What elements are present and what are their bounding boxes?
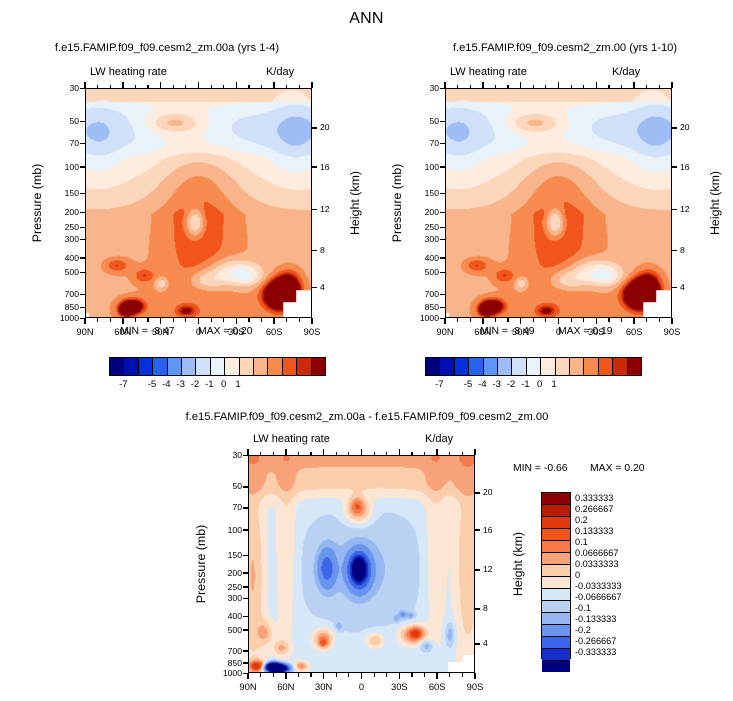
lat-minor-tick-bottom: [608, 318, 609, 322]
lat-tick-bottom: [444, 318, 445, 324]
lat-tick-bottom: [160, 318, 161, 324]
colorbar-swatch: [542, 493, 570, 505]
pressure-tick-label: 50: [407, 117, 439, 126]
colorbar-swatch: [124, 358, 138, 375]
lat-tick-label: 60N: [268, 682, 304, 691]
panel-title-difference: f.e15.FAMIP.f09_f09.cesm2_zm.00a - f.e15…: [97, 411, 637, 423]
colorbar-swatch: [556, 358, 570, 375]
colorbar-swatch: [440, 358, 454, 375]
height-tick-label: 20: [680, 123, 702, 132]
pressure-tick-label: 100: [210, 526, 242, 535]
panel-test-units-label: K/day: [266, 66, 294, 78]
lat-tick-top: [361, 449, 362, 455]
lat-minor-tick-top: [223, 85, 224, 89]
colorbar-tick-label: 0.2: [575, 515, 653, 525]
lat-tick-label: 60S: [256, 327, 292, 336]
lat-minor-tick-top: [545, 85, 546, 89]
height-tick: [672, 166, 677, 167]
lat-tick-bottom: [596, 318, 597, 324]
pressure-tick-label: 200: [210, 569, 242, 578]
lat-minor-tick-top: [470, 85, 471, 89]
pressure-tick-label: 500: [47, 268, 79, 277]
colorbar-swatch: [455, 358, 469, 375]
lat-minor-tick-bottom: [646, 318, 647, 322]
colorbar-swatch: [542, 589, 570, 601]
height-tick-label: 4: [483, 639, 505, 648]
height-tick: [475, 569, 480, 570]
pressure-tick: [440, 121, 445, 122]
colorbar-swatch: [527, 358, 541, 375]
colorbar-swatch: [542, 565, 570, 577]
pressure-tick: [440, 193, 445, 194]
pressure-tick-label: 250: [210, 583, 242, 592]
lat-tick-top: [436, 449, 437, 455]
panel-control-min: MIN = -3.49: [480, 326, 535, 337]
colorbar-swatch: [168, 358, 182, 375]
colorbar-swatch: [182, 358, 196, 375]
lat-tick-bottom: [520, 318, 521, 324]
lat-minor-tick-bottom: [135, 318, 136, 322]
colorbar-tick-label: -7: [425, 379, 453, 390]
height-tick-label: 8: [320, 246, 342, 255]
pressure-tick: [243, 529, 248, 530]
lat-tick-top: [311, 82, 312, 88]
panel-control-ylabel: Pressure (mb): [390, 148, 404, 258]
lat-minor-tick-top: [273, 452, 274, 456]
pressure-tick-label: 30: [210, 451, 242, 460]
lat-tick-label: 90S: [294, 327, 330, 336]
lat-tick-top: [399, 449, 400, 455]
lat-minor-tick-bottom: [411, 673, 412, 677]
panel-control-y2label: Height (km): [708, 148, 722, 258]
lat-tick-top: [596, 82, 597, 88]
lat-minor-tick-top: [533, 85, 534, 89]
lat-minor-tick-bottom: [97, 318, 98, 322]
panel-control-variable-label: LW heating rate: [450, 66, 527, 78]
lat-tick-top: [273, 82, 274, 88]
pressure-tick: [243, 662, 248, 663]
pressure-tick-label: 1000: [47, 314, 79, 323]
colorbar-tick-label: 1: [540, 379, 568, 390]
pressure-tick: [243, 486, 248, 487]
panel-test-min: MIN = -3.47: [120, 326, 175, 337]
height-tick-label: 16: [680, 163, 702, 172]
pressure-tick: [243, 555, 248, 556]
height-tick: [672, 209, 677, 210]
lat-minor-tick-bottom: [298, 673, 299, 677]
lat-minor-tick-top: [298, 452, 299, 456]
pressure-tick-label: 300: [407, 235, 439, 244]
lat-tick-label: 90N: [230, 682, 266, 691]
colorbar-tick-label: 0.333333: [575, 493, 653, 503]
colorbar-swatch: [542, 505, 570, 517]
pressure-tick: [80, 307, 85, 308]
colorbar-swatch: [139, 358, 153, 375]
lat-minor-tick-top: [135, 85, 136, 89]
lat-tick-top: [558, 82, 559, 88]
colorbar-tick-label: -0.1: [575, 603, 653, 613]
colorbar-tick-label: -0.0333333: [575, 581, 653, 591]
lat-tick-bottom: [482, 318, 483, 324]
pressure-tick: [440, 212, 445, 213]
lat-minor-tick-bottom: [659, 318, 660, 322]
colorbar-swatch: [542, 661, 570, 672]
lat-minor-tick-top: [260, 452, 261, 456]
pressure-tick-label: 700: [210, 647, 242, 656]
pressure-tick-label: 50: [47, 117, 79, 126]
pressure-tick-label: 300: [210, 594, 242, 603]
lat-tick-top: [671, 82, 672, 88]
panel-test-y2label: Height (km): [348, 148, 362, 258]
pressure-tick: [243, 650, 248, 651]
lat-minor-tick-top: [583, 85, 584, 89]
lat-tick-top: [520, 82, 521, 88]
lat-minor-tick-bottom: [273, 673, 274, 677]
lat-minor-tick-bottom: [248, 318, 249, 322]
pressure-tick-label: 400: [407, 254, 439, 263]
lat-tick-bottom: [84, 318, 85, 324]
colorbar-swatch: [110, 358, 124, 375]
lat-minor-tick-bottom: [621, 318, 622, 322]
pressure-tick: [440, 257, 445, 258]
lat-tick-top: [285, 449, 286, 455]
colorbar-swatch: [498, 358, 512, 375]
lat-minor-tick-top: [462, 452, 463, 456]
panel-difference-ylabel: Pressure (mb): [194, 509, 208, 619]
lat-minor-tick-top: [336, 452, 337, 456]
height-tick: [475, 643, 480, 644]
lat-minor-tick-bottom: [386, 673, 387, 677]
lat-minor-tick-bottom: [583, 318, 584, 322]
lat-tick-label: 30N: [306, 682, 342, 691]
colorbar-swatch: [570, 358, 584, 375]
lat-tick-label: 90S: [457, 682, 493, 691]
lat-minor-tick-bottom: [223, 318, 224, 322]
height-tick: [312, 287, 317, 288]
pressure-tick: [440, 272, 445, 273]
lat-minor-tick-top: [424, 452, 425, 456]
pressure-tick-label: 250: [407, 223, 439, 232]
pressure-tick-label: 400: [47, 254, 79, 263]
height-tick-label: 20: [483, 488, 505, 497]
lat-tick-top: [482, 82, 483, 88]
colorbar-swatch: [542, 649, 570, 661]
colorbar-swatch: [542, 577, 570, 589]
colorbar-swatch: [613, 358, 627, 375]
height-tick-label: 20: [320, 123, 342, 132]
pressure-tick-label: 70: [47, 139, 79, 148]
lat-tick-top: [247, 449, 248, 455]
lat-minor-tick-bottom: [470, 318, 471, 322]
panel-test-plot: [85, 88, 312, 318]
colorbar-swatch: [542, 553, 570, 565]
lat-tick-top: [633, 82, 634, 88]
lat-tick-top: [198, 82, 199, 88]
panel-control-colorbar: [425, 357, 642, 376]
lat-tick-bottom: [436, 673, 437, 679]
colorbar-tick-label: -0.266667: [575, 636, 653, 646]
panel-difference-min: MIN = -0.66: [513, 463, 568, 474]
lat-tick-label: 60S: [419, 682, 455, 691]
lat-minor-tick-top: [457, 85, 458, 89]
panel-test-max: MAX = 0.20: [198, 326, 253, 337]
pressure-tick: [80, 193, 85, 194]
lat-minor-tick-top: [348, 452, 349, 456]
lat-minor-tick-bottom: [147, 318, 148, 322]
lat-tick-label: 90S: [654, 327, 690, 336]
panel-test-ylabel: Pressure (mb): [30, 148, 44, 258]
lat-minor-tick-top: [211, 85, 212, 89]
height-tick: [312, 250, 317, 251]
colorbar-tick-label: 0.0666667: [575, 548, 653, 558]
pressure-tick-label: 200: [407, 208, 439, 217]
height-tick-label: 4: [320, 283, 342, 292]
pressure-tick-label: 150: [210, 551, 242, 560]
lat-minor-tick-bottom: [449, 673, 450, 677]
page-title: ANN: [0, 10, 733, 28]
colorbar-swatch: [584, 358, 598, 375]
height-tick: [475, 608, 480, 609]
height-tick: [312, 166, 317, 167]
colorbar-swatch: [225, 358, 239, 375]
pressure-tick-label: 850: [210, 659, 242, 668]
lat-minor-tick-top: [621, 85, 622, 89]
colorbar-swatch: [268, 358, 282, 375]
lat-minor-tick-bottom: [173, 318, 174, 322]
lat-tick-top: [84, 82, 85, 88]
colorbar-swatch: [254, 358, 268, 375]
colorbar-swatch: [240, 358, 254, 375]
lat-minor-tick-bottom: [533, 318, 534, 322]
colorbar-tick-label: -0.2: [575, 625, 653, 635]
pressure-tick: [80, 294, 85, 295]
panel-test-variable-label: LW heating rate: [90, 66, 167, 78]
height-tick: [475, 492, 480, 493]
colorbar-swatch: [297, 358, 311, 375]
pressure-tick: [440, 239, 445, 240]
lat-tick-bottom: [311, 318, 312, 324]
height-tick-label: 8: [680, 246, 702, 255]
panel-difference-units-label: K/day: [425, 433, 453, 445]
pressure-tick-label: 500: [407, 268, 439, 277]
lat-minor-tick-top: [310, 452, 311, 456]
colorbar-tick-label: 0.1: [575, 537, 653, 547]
pressure-tick-label: 30: [407, 84, 439, 93]
pressure-tick: [80, 143, 85, 144]
height-tick: [312, 127, 317, 128]
pressure-tick-label: 200: [47, 208, 79, 217]
height-tick-label: 8: [483, 604, 505, 613]
colorbar-swatch: [542, 541, 570, 553]
lat-tick-label: 30S: [381, 682, 417, 691]
panel-title-test: f.e15.FAMIP.f09_f09.cesm2_zm.00a (yrs 1-…: [2, 42, 332, 54]
lat-minor-tick-top: [147, 85, 148, 89]
lat-minor-tick-top: [110, 85, 111, 89]
height-tick: [475, 529, 480, 530]
lat-tick-top: [236, 82, 237, 88]
lat-minor-tick-bottom: [424, 673, 425, 677]
lat-minor-tick-bottom: [211, 318, 212, 322]
panel-test-colorbar: [109, 357, 326, 376]
lat-minor-tick-top: [261, 85, 262, 89]
pressure-tick: [440, 166, 445, 167]
colorbar-tick-label: -0.133333: [575, 614, 653, 624]
lat-minor-tick-bottom: [336, 673, 337, 677]
lat-minor-tick-top: [286, 85, 287, 89]
lat-minor-tick-top: [299, 85, 300, 89]
lat-minor-tick-top: [571, 85, 572, 89]
lat-minor-tick-bottom: [286, 318, 287, 322]
pressure-tick: [243, 586, 248, 587]
pressure-tick-label: 850: [47, 303, 79, 312]
colorbar-swatch: [312, 358, 325, 375]
lat-minor-tick-bottom: [462, 673, 463, 677]
lat-tick-bottom: [361, 673, 362, 679]
pressure-tick: [243, 507, 248, 508]
colorbar-swatch: [542, 637, 570, 649]
pressure-tick-label: 70: [210, 503, 242, 512]
lat-tick-bottom: [122, 318, 123, 324]
panel-difference-max: MAX = 0.20: [590, 463, 645, 474]
lat-minor-tick-top: [173, 85, 174, 89]
colorbar-swatch: [542, 625, 570, 637]
lat-minor-tick-top: [248, 85, 249, 89]
lat-tick-bottom: [399, 673, 400, 679]
colorbar-tick-label: -0.333333: [575, 647, 653, 657]
lat-minor-tick-top: [185, 85, 186, 89]
lat-minor-tick-bottom: [457, 318, 458, 322]
colorbar-swatch: [484, 358, 498, 375]
lat-minor-tick-bottom: [260, 673, 261, 677]
height-tick-label: 12: [320, 205, 342, 214]
height-tick: [672, 250, 677, 251]
lat-minor-tick-bottom: [110, 318, 111, 322]
panel-difference-y2label: Height (km): [511, 509, 525, 619]
colorbar-swatch: [426, 358, 440, 375]
lat-minor-tick-bottom: [545, 318, 546, 322]
lat-minor-tick-top: [659, 85, 660, 89]
colorbar-tick-label: 0.133333: [575, 526, 653, 536]
panel-control-units-label: K/day: [612, 66, 640, 78]
colorbar-swatch: [599, 358, 613, 375]
pressure-tick: [440, 227, 445, 228]
lat-tick-top: [444, 82, 445, 88]
lat-minor-tick-top: [374, 452, 375, 456]
pressure-tick: [440, 307, 445, 308]
height-tick-label: 12: [680, 205, 702, 214]
colorbar-swatch: [628, 358, 641, 375]
lat-tick-bottom: [236, 318, 237, 324]
height-tick: [672, 287, 677, 288]
lat-minor-tick-top: [608, 85, 609, 89]
colorbar-swatch: [512, 358, 526, 375]
lat-minor-tick-top: [507, 85, 508, 89]
pressure-tick-label: 1000: [407, 314, 439, 323]
lat-minor-tick-top: [449, 452, 450, 456]
colorbar-tick-label: -7: [109, 379, 137, 390]
pressure-tick: [243, 598, 248, 599]
height-tick-label: 16: [320, 163, 342, 172]
pressure-tick-label: 100: [47, 163, 79, 172]
lat-tick-bottom: [558, 318, 559, 324]
colorbar-swatch: [196, 358, 210, 375]
panel-control-max: MAX = 0.19: [558, 326, 613, 337]
lat-tick-bottom: [323, 673, 324, 679]
panel-difference-colorbar: [541, 492, 571, 659]
lat-minor-tick-bottom: [374, 673, 375, 677]
lat-minor-tick-bottom: [299, 318, 300, 322]
pressure-tick: [80, 257, 85, 258]
lat-minor-tick-top: [646, 85, 647, 89]
colorbar-tick-label: -0.0666667: [575, 592, 653, 602]
lat-minor-tick-bottom: [495, 318, 496, 322]
colorbar-tick-label: 0.266667: [575, 504, 653, 514]
colorbar-swatch: [542, 517, 570, 529]
pressure-tick: [440, 294, 445, 295]
lat-minor-tick-bottom: [261, 318, 262, 322]
pressure-tick-label: 70: [407, 139, 439, 148]
panel-control-plot: [445, 88, 672, 318]
pressure-tick: [80, 227, 85, 228]
panel-difference-variable-label: LW heating rate: [253, 433, 330, 445]
pressure-tick: [80, 121, 85, 122]
colorbar-tick-label: 0: [575, 570, 653, 580]
pressure-tick: [243, 572, 248, 573]
lat-tick-bottom: [671, 318, 672, 324]
pressure-tick: [80, 166, 85, 167]
lat-tick-bottom: [633, 318, 634, 324]
pressure-tick-label: 700: [407, 290, 439, 299]
colorbar-swatch: [283, 358, 297, 375]
pressure-tick-label: 850: [407, 303, 439, 312]
lat-tick-top: [122, 82, 123, 88]
lat-minor-tick-top: [97, 85, 98, 89]
colorbar-swatch: [542, 613, 570, 625]
lat-tick-label: 90N: [427, 327, 463, 336]
lat-tick-label: 90N: [67, 327, 103, 336]
panel-title-control: f.e15.FAMIP.f09_f09.cesm2_zm.00 (yrs 1-1…: [400, 42, 730, 54]
panel-difference-plot: [248, 455, 475, 673]
lat-tick-bottom: [285, 673, 286, 679]
lat-tick-bottom: [273, 318, 274, 324]
colorbar-swatch: [153, 358, 167, 375]
height-tick-label: 16: [483, 526, 505, 535]
height-tick: [672, 127, 677, 128]
lat-tick-top: [474, 449, 475, 455]
pressure-tick-label: 400: [210, 612, 242, 621]
height-tick: [312, 209, 317, 210]
pressure-tick: [440, 143, 445, 144]
lat-minor-tick-bottom: [507, 318, 508, 322]
lat-minor-tick-top: [495, 85, 496, 89]
lat-minor-tick-top: [386, 452, 387, 456]
lat-minor-tick-bottom: [571, 318, 572, 322]
pressure-tick: [80, 212, 85, 213]
height-tick-label: 12: [483, 565, 505, 574]
pressure-tick-label: 100: [407, 163, 439, 172]
lat-tick-top: [160, 82, 161, 88]
colorbar-swatch: [542, 601, 570, 613]
pressure-tick: [243, 629, 248, 630]
pressure-tick-label: 300: [47, 235, 79, 244]
lat-minor-tick-bottom: [310, 673, 311, 677]
colorbar-swatch: [469, 358, 483, 375]
lat-tick-bottom: [474, 673, 475, 679]
pressure-tick-label: 50: [210, 482, 242, 491]
pressure-tick-label: 150: [47, 189, 79, 198]
pressure-tick-label: 250: [47, 223, 79, 232]
pressure-tick-label: 150: [407, 189, 439, 198]
